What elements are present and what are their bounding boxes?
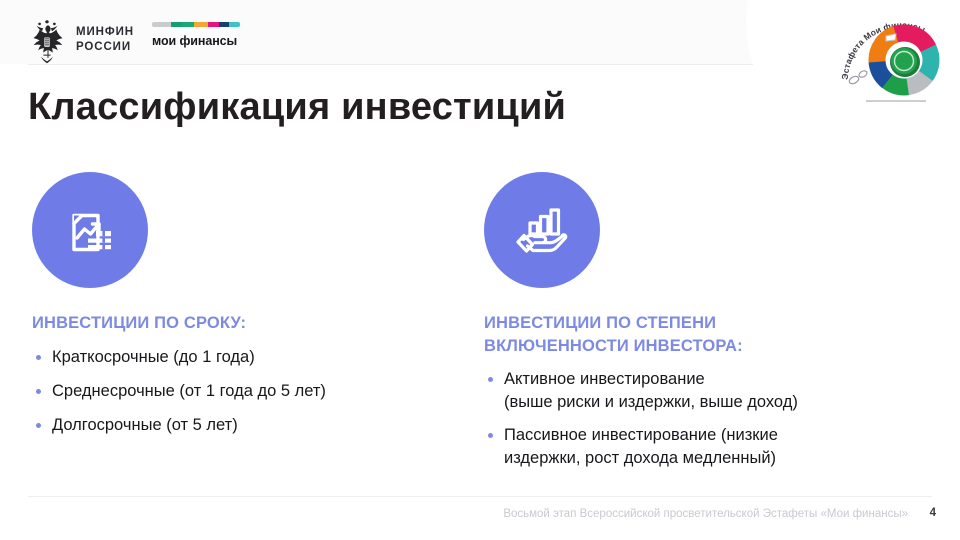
column-heading-line-1: ИНВЕСТИЦИИ ПО СТЕПЕНИ xyxy=(484,312,914,335)
estafeta-moi-finansy-emblem-icon: Эстафета Мои финансы xyxy=(830,2,954,114)
list-item-line: (выше риски и издержки, выше доход) xyxy=(504,391,914,414)
bullet-list: Активное инвестирование (выше риски и из… xyxy=(484,368,914,470)
list-item-line: Пассивное инвестирование (низкие xyxy=(504,424,914,447)
ministry-line-1: МИНФИН xyxy=(76,25,134,40)
slide: МИНФИН РОССИИ мои финансы Эстафета Мои ф… xyxy=(0,0,960,540)
report-chart-document-icon xyxy=(58,198,122,262)
list-item-line: Долгосрочные (от 5 лет) xyxy=(52,414,462,437)
list-item-line: Среднесрочные (от 1 года до 5 лет) xyxy=(52,380,462,403)
myfinance-wordmark: мои финансы xyxy=(152,34,244,48)
list-item: Активное инвестирование (выше риски и из… xyxy=(484,368,914,414)
list-item-line: издержки, рост дохода медленный) xyxy=(504,447,914,470)
page-number: 4 xyxy=(930,507,936,519)
ministry-brand: МИНФИН РОССИИ xyxy=(24,16,134,64)
list-item: Пассивное инвестирование (низкие издержк… xyxy=(484,424,914,470)
list-item: Краткосрочные (до 1 года) xyxy=(32,346,462,369)
column-investments-by-term: ИНВЕСТИЦИИ ПО СРОКУ: Краткосрочные (до 1… xyxy=(32,172,462,448)
ministry-name: МИНФИН РОССИИ xyxy=(76,25,134,55)
footer-caption: Восьмой этап Всероссийской просветительс… xyxy=(503,508,908,520)
footer-divider xyxy=(28,496,932,497)
bullet-list: Краткосрочные (до 1 года) Среднесрочные … xyxy=(32,346,462,437)
ministry-line-2: РОССИИ xyxy=(76,40,134,55)
myfinance-color-bar xyxy=(152,22,240,27)
russian-coat-of-arms-icon xyxy=(24,16,70,64)
page-title: Классификация инвестиций xyxy=(28,86,788,129)
hand-holding-bars-icon-circle xyxy=(484,172,600,288)
list-item: Долгосрочные (от 5 лет) xyxy=(32,414,462,437)
column-heading-line-1: ИНВЕСТИЦИИ ПО СРОКУ: xyxy=(32,312,462,335)
column-heading-line-2: ВКЛЮЧЕННОСТИ ИНВЕСТОРА: xyxy=(484,335,914,358)
list-item: Среднесрочные (от 1 года до 5 лет) xyxy=(32,380,462,403)
column-heading: ИНВЕСТИЦИИ ПО СТЕПЕНИ ВКЛЮЧЕННОСТИ ИНВЕС… xyxy=(484,312,914,358)
column-investments-by-involvement: ИНВЕСТИЦИИ ПО СТЕПЕНИ ВКЛЮЧЕННОСТИ ИНВЕС… xyxy=(484,172,914,480)
hand-holding-bars-icon xyxy=(509,197,575,263)
list-item-line: Активное инвестирование xyxy=(504,368,914,391)
myfinance-brand: мои финансы xyxy=(152,22,244,48)
list-item-line: Краткосрочные (до 1 года) xyxy=(52,346,462,369)
report-chart-document-icon-circle xyxy=(32,172,148,288)
column-heading: ИНВЕСТИЦИИ ПО СРОКУ: xyxy=(32,312,462,335)
